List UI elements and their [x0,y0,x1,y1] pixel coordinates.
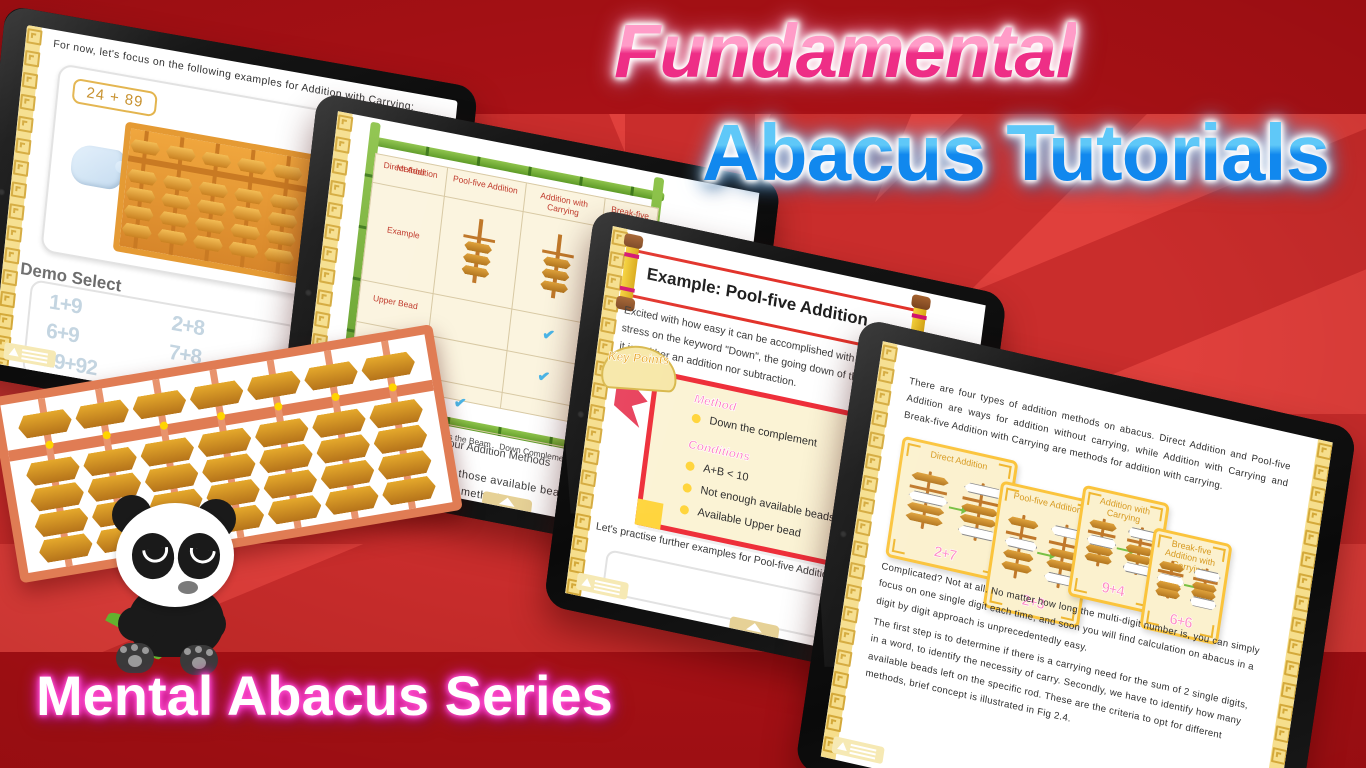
greek-key-glyph [826,714,843,732]
table-cell: Example [369,222,437,245]
greek-key-glyph [871,410,888,428]
abacus-bead[interactable] [233,187,264,205]
greek-key-glyph [852,540,869,558]
abacus-bead[interactable] [159,210,190,228]
abacus-bead [319,459,376,491]
reader-toolbar[interactable] [831,736,884,764]
abacus-bead [368,398,425,430]
demo-select-item[interactable]: 1+9 [48,290,83,320]
panda-toe [206,649,213,656]
abacus-bead [315,433,372,465]
abacus-bead[interactable] [236,157,267,175]
abacus-bead[interactable] [165,145,196,163]
triangle-icon [581,577,592,587]
greek-key-glyph [862,475,879,493]
abacus-bead [196,427,253,459]
greek-key-glyph [572,535,589,553]
greek-key-glyph [583,447,600,465]
abacus-bead [303,360,360,392]
headline-line-1: Fundamental [614,14,1076,90]
greek-key-glyph [334,136,350,154]
bullet-icon [691,413,701,424]
abacus-before [1083,516,1117,570]
abacus-bead [310,407,367,439]
abacus-bead [37,532,94,564]
abacus-bead [16,408,73,440]
abacus-bead[interactable] [130,138,161,156]
bamboo-node [425,147,429,157]
key-points-corner [635,498,664,529]
panda-arm-right [186,607,226,641]
abacus-bead[interactable] [121,222,152,240]
abacus-bead [82,446,139,478]
check-icon: ✔ [541,328,556,345]
abacus-bead [29,481,86,513]
abacus-bead [200,452,257,484]
bamboo-node [528,167,532,177]
greek-key-glyph [15,138,31,156]
greek-key-glyph [0,313,14,331]
abacus-bead [381,475,438,507]
demo-select-item[interactable]: 2+8 [170,312,205,342]
greek-key-glyph [20,94,36,112]
abacus-bead [188,379,245,411]
greek-key-glyph [17,116,33,134]
bullet-icon [685,461,695,472]
abacus-before [1155,558,1185,601]
abacus-bead [262,468,319,500]
abacus-bead[interactable] [230,223,261,241]
panda-mascot [100,495,250,680]
abacus-bead[interactable] [162,175,193,193]
abacus-illustration [113,121,326,286]
abacus-bead [360,351,417,383]
abacus-bead[interactable] [194,217,225,235]
abacus-bead [74,398,131,430]
abacus-bead [139,436,196,468]
key-points-badge-label: Key Points [603,349,674,367]
greek-key-glyph [0,291,16,309]
greek-key-glyph [600,317,617,335]
check-icon: ✔ [452,396,467,413]
abacus-bead [131,389,188,421]
greek-key-glyph [577,491,594,509]
conditions-heading: Conditions [687,437,750,464]
bamboo-node [630,186,634,196]
check-icon: ✔ [536,369,551,386]
greek-key-glyph [24,50,40,68]
bullet-icon [682,483,692,494]
greek-key-glyph [337,114,353,132]
bamboo-node [477,157,481,167]
abacus-bead[interactable] [228,241,259,259]
abacus-bead [258,443,315,475]
abacus-bead [143,462,200,494]
abacus-bead [376,449,433,481]
greek-key-glyph [589,404,606,422]
panda-toe [195,646,202,653]
abacus-bead [266,494,323,526]
abacus-bead [33,507,90,539]
greek-key-glyph [865,453,882,471]
panda-eye-highlight [188,548,216,565]
panda-toe [120,646,127,653]
greek-key-glyph [26,28,42,46]
greek-key-glyph [327,202,343,220]
greek-key-glyph [314,311,330,329]
greek-key-glyph [849,562,866,580]
greek-key-glyph [868,431,885,449]
bullet-icon [679,504,689,515]
abacus-before [1000,512,1040,582]
table-example-abacus [458,216,497,286]
abacus-bead[interactable] [196,199,227,217]
condition-item: A+B < 10 [703,463,750,484]
greek-key-glyph [829,692,846,710]
table-cell: Upper Bead [361,292,429,315]
panda-head [116,503,234,607]
abacus-bead [24,455,81,487]
panda-toe [131,644,138,651]
greek-key-glyph [319,267,335,285]
greek-key-glyph [317,289,333,307]
abacus-bead[interactable] [161,192,192,210]
abacus-bead[interactable] [272,164,303,182]
method-card-equation: 9+4 [1071,572,1154,607]
greek-key-glyph [322,245,338,263]
triangle-icon [837,741,848,751]
headline-line-2: Abacus Tutorials [702,113,1329,193]
panda-eye-highlight [142,547,170,564]
greek-key-glyph [881,344,898,362]
abacus-bead[interactable] [198,181,229,199]
abacus-bead[interactable] [264,247,295,265]
abacus-bead[interactable] [269,193,300,211]
greek-key-glyph [332,158,348,176]
panda-toe [142,647,149,654]
greek-key-glyph [13,159,29,177]
greek-key-glyph [845,584,862,602]
panda-nose [178,581,198,594]
demo-select-item[interactable]: 6+9 [45,319,80,349]
greek-key-glyph [842,605,859,623]
abacus-bead[interactable] [192,235,223,253]
greek-key-glyph [22,72,38,90]
greek-key-glyph [839,627,856,645]
greek-key-glyph [580,469,597,487]
greek-key-glyph [878,366,895,384]
bamboo-node [579,176,583,186]
hand-icon [69,142,124,191]
abacus-bead[interactable] [265,229,296,247]
abacus-bead[interactable] [232,205,263,223]
abacus-bead[interactable] [267,211,298,229]
greek-key-glyph [875,388,892,406]
method-heading: Method [693,391,737,414]
greek-key-glyph [575,513,592,531]
panda-toe [184,648,191,655]
greek-key-glyph [858,497,875,515]
greek-key-glyph [832,671,849,689]
triangle-icon [9,347,20,357]
abacus-before [904,467,950,533]
abacus-bead [372,424,429,456]
greek-key-glyph [329,180,345,198]
greek-key-glyph [6,225,22,243]
greek-key-glyph [2,269,18,287]
table-example-abacus [537,231,576,301]
abacus-bead [323,484,380,516]
problem-pill: 24 + 89 [71,78,158,118]
abacus-after [1189,566,1219,609]
table-col-divider [500,183,527,408]
abacus-bead[interactable] [157,228,188,246]
abacus-bead [245,370,302,402]
abacus-bead[interactable] [201,151,232,169]
abacus-bead[interactable] [125,186,156,204]
greek-key-glyph [8,203,24,221]
panda-eye-left [129,530,177,581]
abacus-bead[interactable] [127,168,158,186]
panda-arm-left [118,607,158,641]
greek-key-glyph [324,224,340,242]
abacus-bead [253,417,310,449]
series-label: Mental Abacus Series [36,668,613,724]
greek-key-glyph [1316,442,1332,460]
greek-key-glyph [586,426,603,444]
greek-key-glyph [836,649,853,667]
greek-key-glyph [855,518,872,536]
abacus-bead[interactable] [123,204,154,222]
greek-key-glyph [4,247,20,265]
greek-key-glyph [569,556,586,574]
greek-key-glyph [11,181,27,199]
panda-eye-right [175,530,223,581]
poster-canvas: For now, let's focus on the following ex… [0,0,1366,768]
